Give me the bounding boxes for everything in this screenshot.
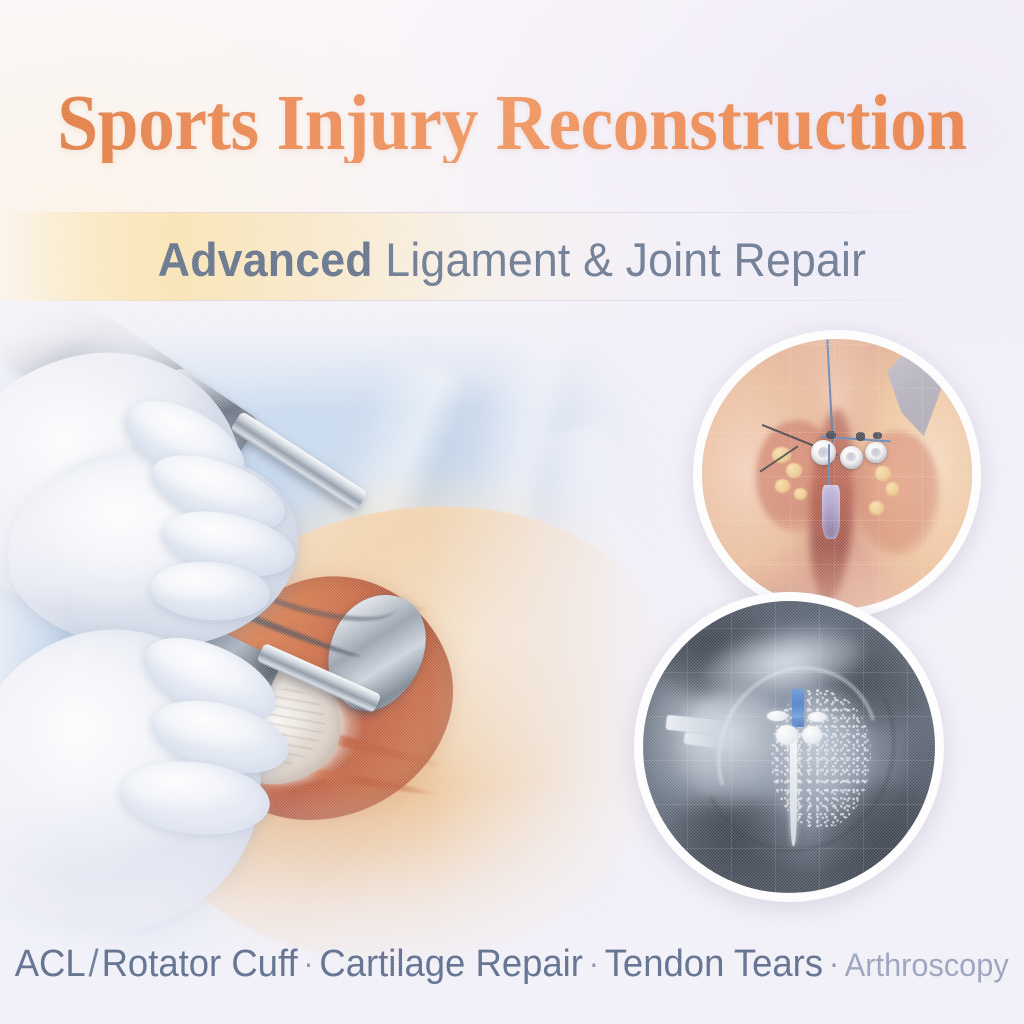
suture-knot — [826, 431, 836, 440]
footer-item-rotator-cuff: Rotator Cuff — [102, 943, 298, 985]
fat-nodule — [875, 466, 891, 481]
footer-slash: / — [86, 943, 102, 985]
footer-item-acl: ACL — [15, 943, 86, 985]
footer-item-arthroscopy: Arthroscopy — [845, 947, 1009, 983]
suture-knot — [856, 432, 865, 440]
implant-head — [767, 711, 787, 722]
mri-bone-trabeculae — [771, 689, 870, 829]
page-title: Sports Injury Reconstruction — [36, 84, 988, 163]
inset-circle-suture-closeup — [693, 330, 981, 618]
suture-anchor — [865, 442, 887, 464]
footer-service-list: ACL/Rotator Cuff·Cartilage Repair·Tendon… — [15, 943, 1009, 986]
poster-canvas: Sports Injury Reconstruction Advanced Li… — [0, 0, 1024, 1024]
footer-separator: · — [298, 945, 320, 981]
suture-anchor — [840, 446, 863, 469]
inset-mri-image — [643, 601, 935, 893]
fat-nodule — [886, 482, 900, 496]
footer-separator: · — [823, 945, 845, 981]
inset-circle-mri-scan — [634, 592, 944, 902]
footer-separator: · — [583, 945, 605, 981]
subtitle-rest: Ligament & Joint Repair — [373, 233, 866, 286]
page-subtitle: Advanced Ligament & Joint Repair — [26, 230, 999, 290]
fat-nodule — [869, 501, 884, 515]
suture-anchor — [811, 440, 835, 464]
poster-header: Sports Injury Reconstruction Advanced Li… — [0, 0, 1024, 310]
inset-suture-image — [702, 339, 972, 609]
subtitle-emphasis: Advanced — [158, 233, 373, 286]
implant-marker-blue — [792, 689, 804, 727]
fat-nodule — [775, 479, 790, 493]
footer-item-cartilage-repair: Cartilage Repair — [320, 943, 584, 985]
footer-item-tendon-tears: Tendon Tears — [605, 943, 823, 985]
fat-nodule — [794, 488, 808, 500]
poster-footer: ACL/Rotator Cuff·Cartilage Repair·Tendon… — [0, 904, 1024, 1024]
fat-nodule — [786, 463, 802, 478]
implant-head — [808, 712, 827, 722]
implant-screw-stem — [790, 735, 798, 846]
implant-head — [802, 726, 822, 744]
cannula-tip — [822, 485, 840, 539]
implant-head — [776, 725, 798, 745]
suture-knot — [873, 432, 881, 440]
